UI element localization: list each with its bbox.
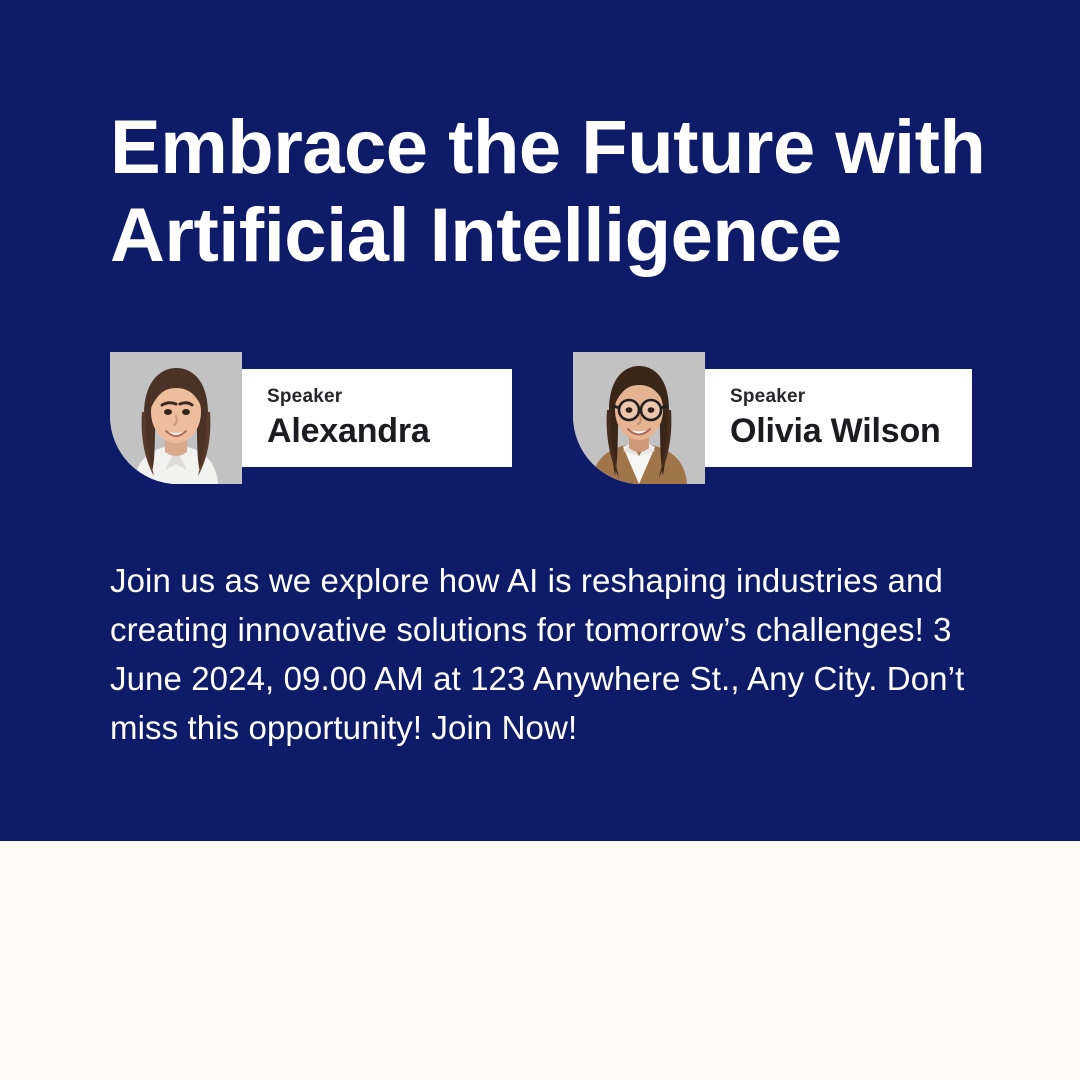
page-title: Embrace the Future with Artificial Intel… bbox=[110, 104, 1010, 280]
footer-section: Capcut Free Registration! Follow our soc… bbox=[0, 841, 1080, 1080]
speaker-label-box: Speaker Olivia Wilson bbox=[702, 369, 972, 467]
hero-section: Embrace the Future with Artificial Intel… bbox=[0, 0, 1080, 841]
speaker-name: Olivia Wilson bbox=[730, 411, 972, 451]
speaker-portrait-illustration bbox=[573, 352, 705, 484]
speaker-portrait-illustration bbox=[110, 352, 242, 484]
speaker-avatar bbox=[573, 352, 705, 484]
speaker-name: Alexandra bbox=[267, 411, 512, 451]
speaker-label-box: Speaker Alexandra bbox=[239, 369, 512, 467]
speaker-role: Speaker bbox=[730, 386, 972, 408]
event-description: Join us as we explore how AI is reshapin… bbox=[110, 556, 980, 752]
poster-canvas: Embrace the Future with Artificial Intel… bbox=[0, 0, 1080, 1080]
speaker-avatar bbox=[110, 352, 242, 484]
speaker-role: Speaker bbox=[267, 386, 512, 408]
